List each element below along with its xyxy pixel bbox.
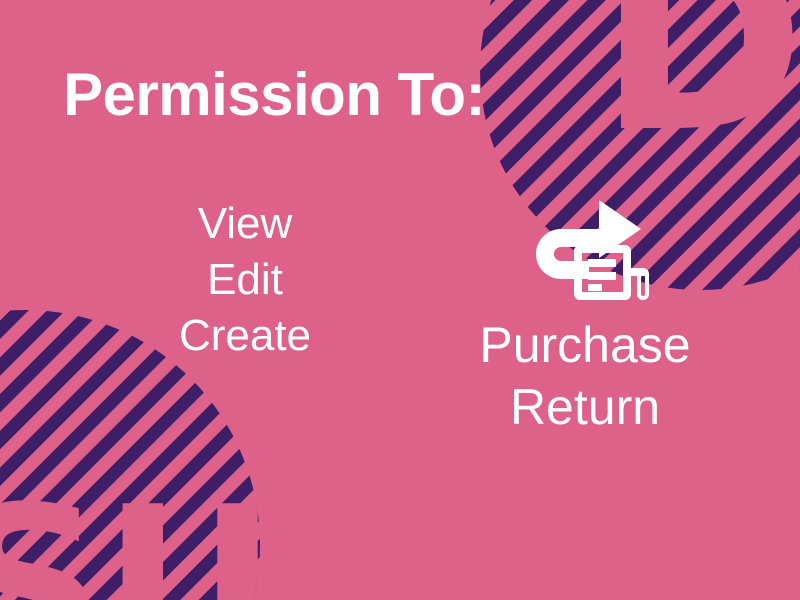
permission-item-edit: Edit [120,252,370,308]
purchase-return-icon [511,196,659,300]
feature-label-line-2: Return [420,376,750,438]
permission-card: DUC SUN Permission To: View Ed [0,0,800,600]
page-title: Permission To: [63,62,485,128]
permission-list: View Edit Create [120,196,370,364]
striped-circle-bottom-left-letters: SUN [0,460,260,600]
feature-block: Purchase Return [420,196,750,438]
feature-label-line-1: Purchase [420,314,750,376]
permission-item-create: Create [120,308,370,364]
permission-item-view: View [120,196,370,252]
striped-circle-top-right-letters: DUC [598,0,800,187]
